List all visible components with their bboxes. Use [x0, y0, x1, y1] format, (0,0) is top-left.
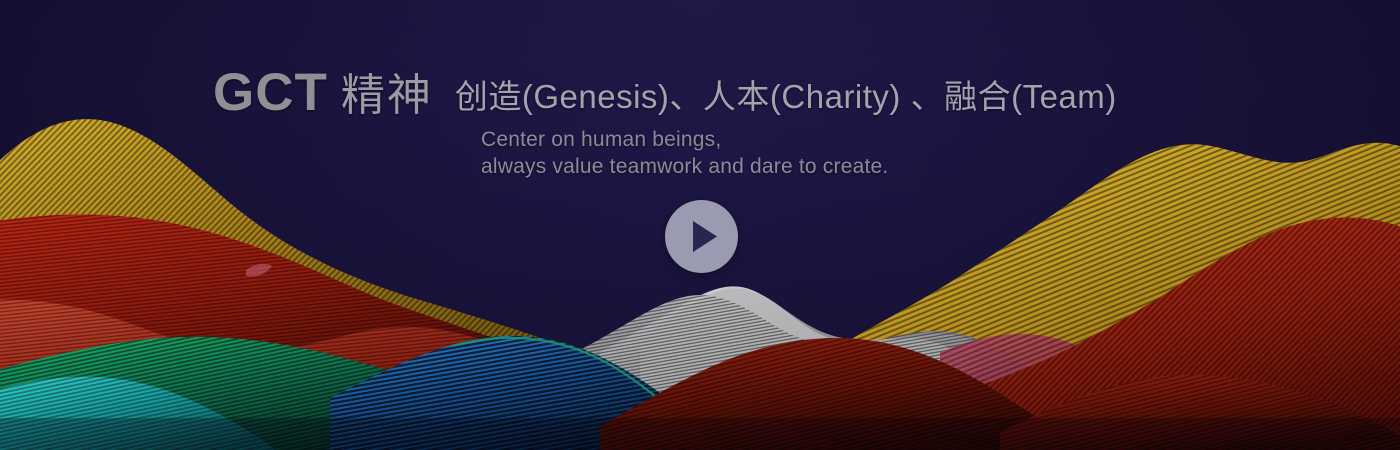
headline: GCT 精神 创造(Genesis)、人本(Charity) 、融合(Team): [213, 66, 1117, 119]
headline-values: 创造(Genesis)、人本(Charity) 、融合(Team): [455, 80, 1117, 113]
play-triangle-icon: [665, 200, 738, 273]
bottom-shade: [0, 418, 1400, 450]
play-video-button[interactable]: [665, 200, 738, 273]
subtitle-line-1: Center on human beings,: [481, 126, 888, 153]
hero-banner: GCT 精神 创造(Genesis)、人本(Charity) 、融合(Team)…: [0, 0, 1400, 450]
logo-gct: GCT: [213, 66, 328, 119]
logo-chinese-spirit: 精神: [341, 74, 433, 118]
subtitle-line-2: always value teamwork and dare to create…: [481, 153, 888, 180]
subtitle: Center on human beings, always value tea…: [481, 126, 888, 180]
